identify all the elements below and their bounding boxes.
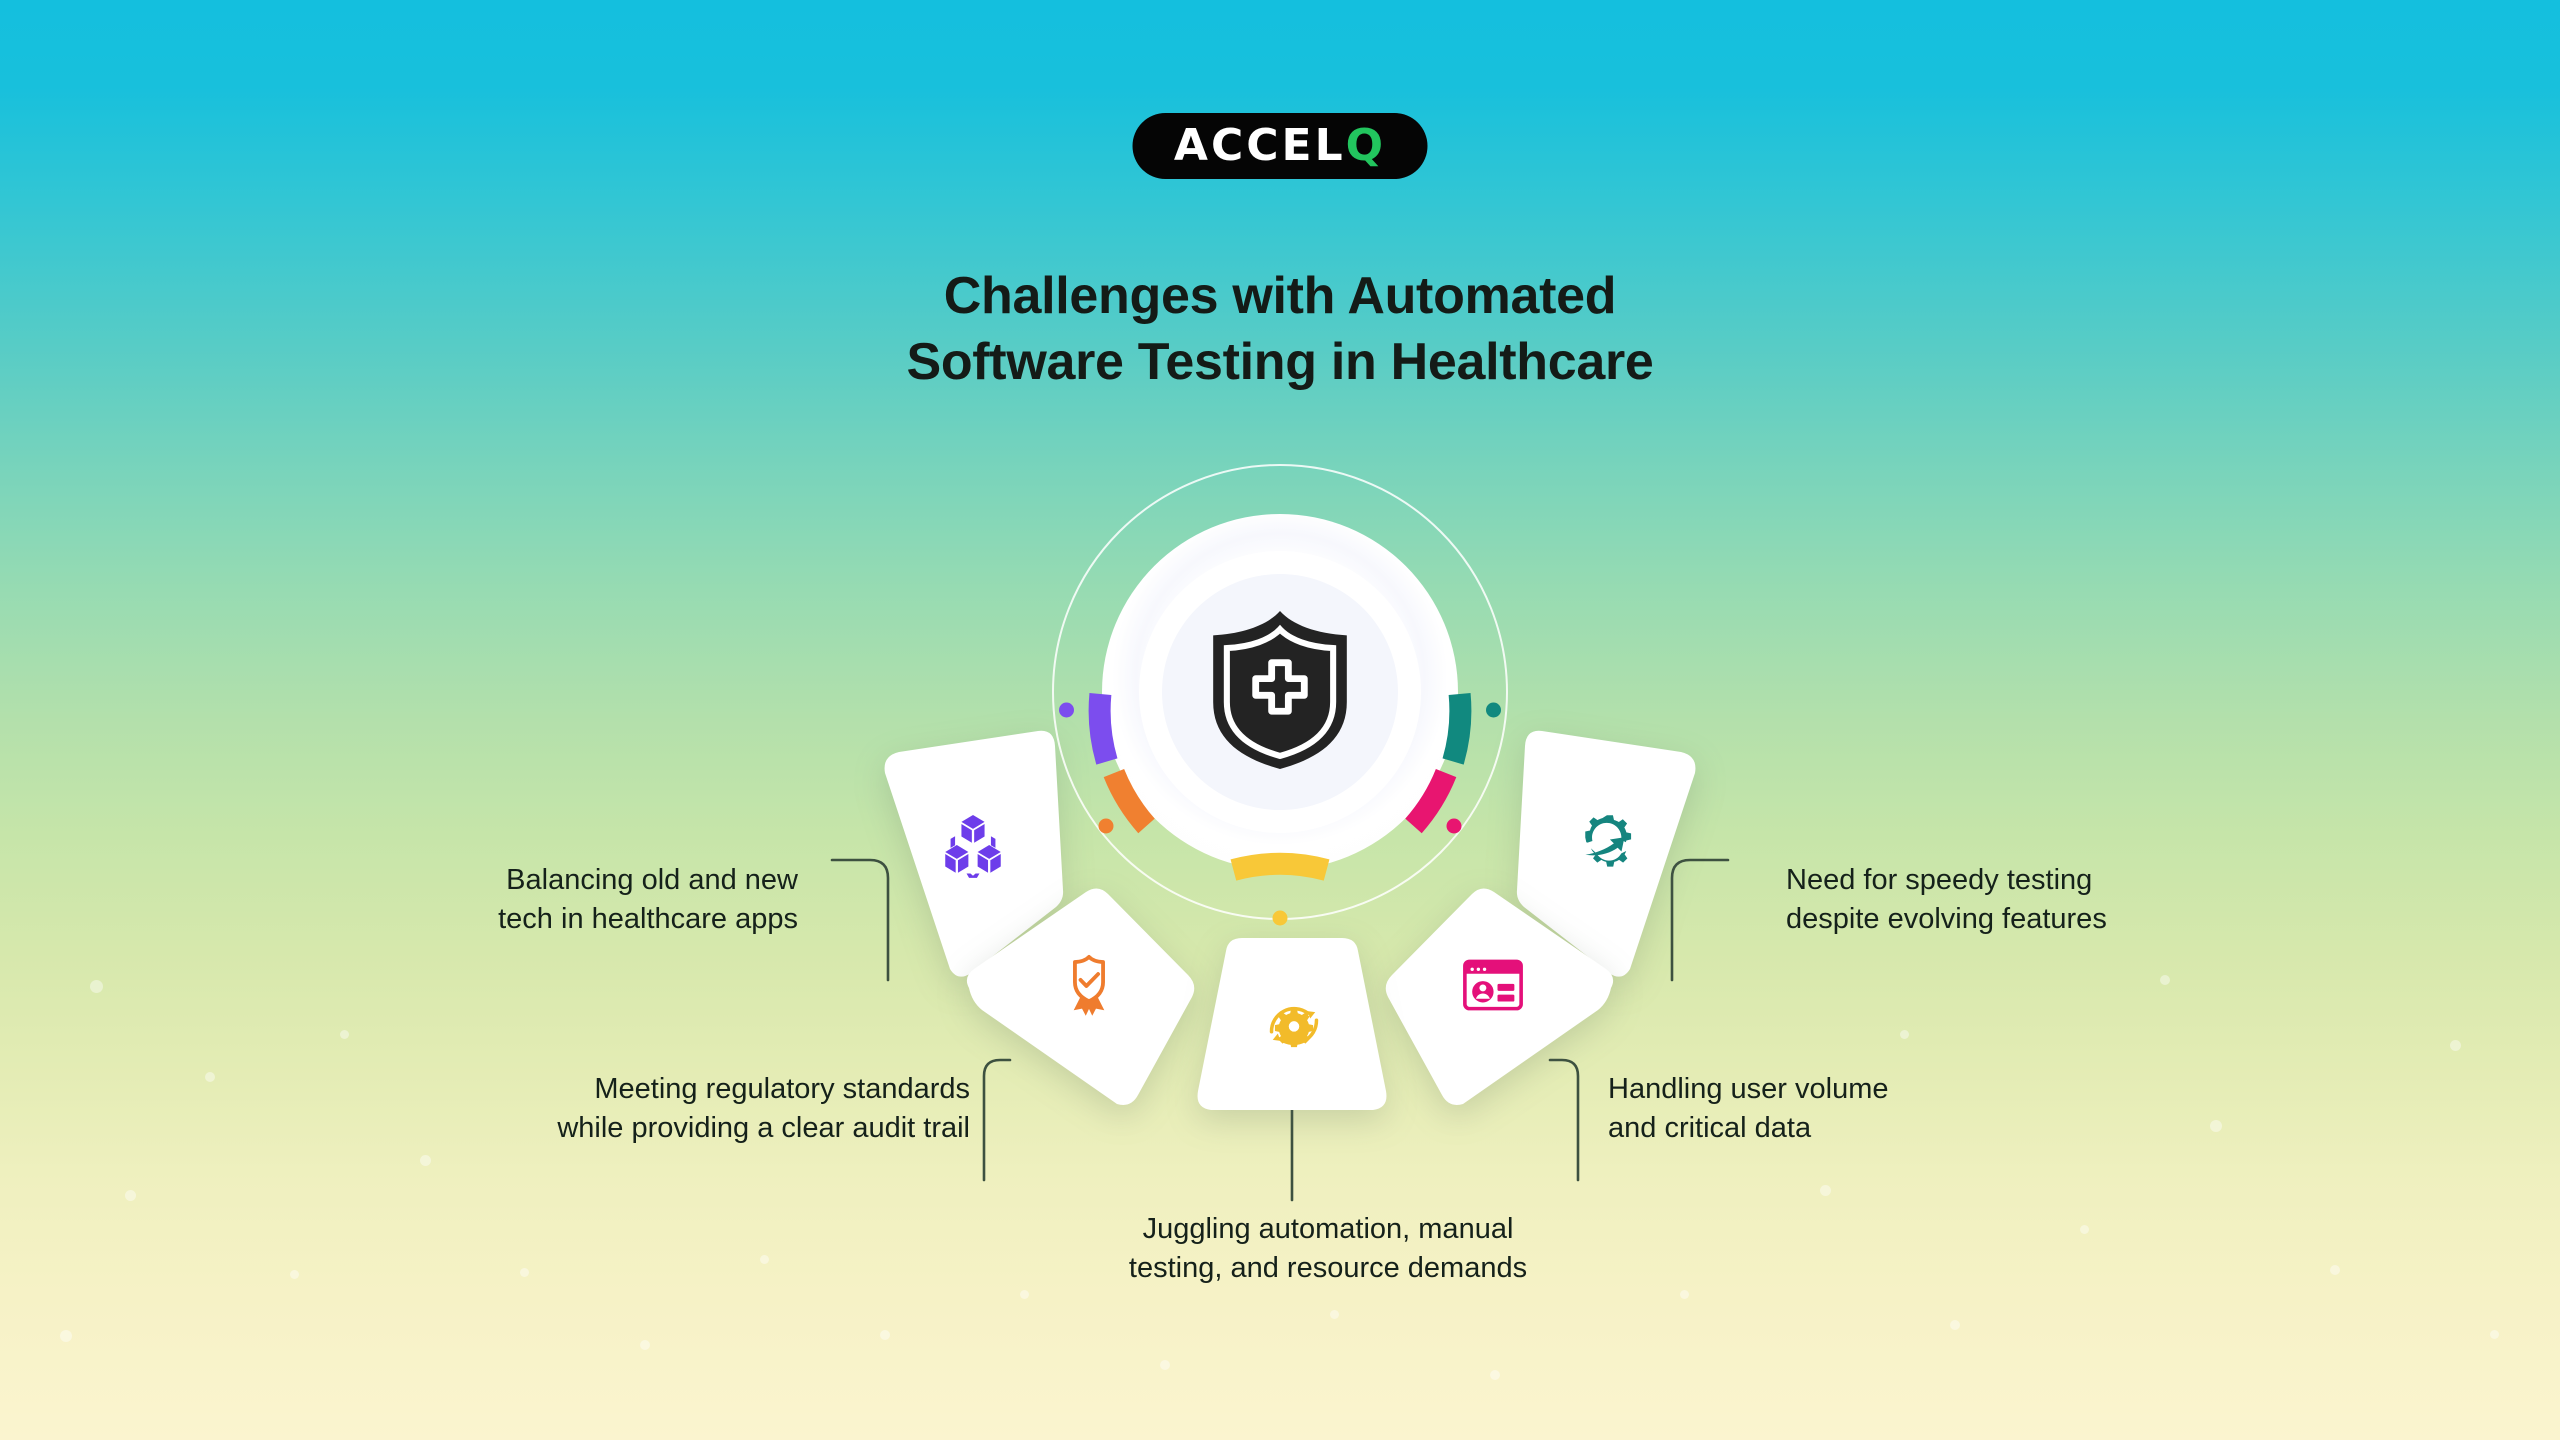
- label-resource-balance-line-1: Juggling automation, manual: [1048, 1210, 1608, 1249]
- label-legacy-tech-line-2: tech in healthcare apps: [328, 900, 798, 939]
- label-resource-balance-line-2: testing, and resource demands: [1048, 1249, 1608, 1288]
- label-legacy-tech: Balancing old and new tech in healthcare…: [328, 861, 798, 938]
- diagram-stage: Balancing old and new tech in healthcare…: [0, 0, 2560, 1440]
- orbit-dot-yellow: [1273, 911, 1288, 926]
- orbit-dot-purple: [1059, 703, 1074, 718]
- label-resource-balance: Juggling automation, manual testing, and…: [1048, 1210, 1608, 1287]
- label-user-volume: Handling user volume and critical data: [1608, 1070, 2078, 1147]
- label-speed-line-1: Need for speedy testing: [1786, 861, 2256, 900]
- automation-cycle-gear-icon: [1244, 976, 1344, 1076]
- orbit-dot-teal: [1486, 703, 1501, 718]
- label-speed-line-2: despite evolving features: [1786, 900, 2256, 939]
- orbit-dot-magenta: [1447, 819, 1462, 834]
- label-regulatory-line-2: while providing a clear audit trail: [380, 1109, 970, 1148]
- orbit-dot-orange: [1099, 819, 1114, 834]
- challenge-card-resource-balance[interactable]: [1172, 936, 1412, 1116]
- user-profile-window-icon: [1438, 930, 1548, 1040]
- label-regulatory: Meeting regulatory standards while provi…: [380, 1070, 970, 1147]
- medical-shield-icon: [1202, 608, 1358, 772]
- label-speed: Need for speedy testing despite evolving…: [1786, 861, 2256, 938]
- certified-badge-icon: [1034, 930, 1144, 1040]
- label-regulatory-line-1: Meeting regulatory standards: [380, 1070, 970, 1109]
- label-user-volume-line-2: and critical data: [1608, 1109, 2078, 1148]
- label-legacy-tech-line-1: Balancing old and new: [328, 861, 798, 900]
- infographic-canvas: ACCELQ Challenges with Automated Softwar…: [0, 0, 2560, 1440]
- label-user-volume-line-1: Handling user volume: [1608, 1070, 2078, 1109]
